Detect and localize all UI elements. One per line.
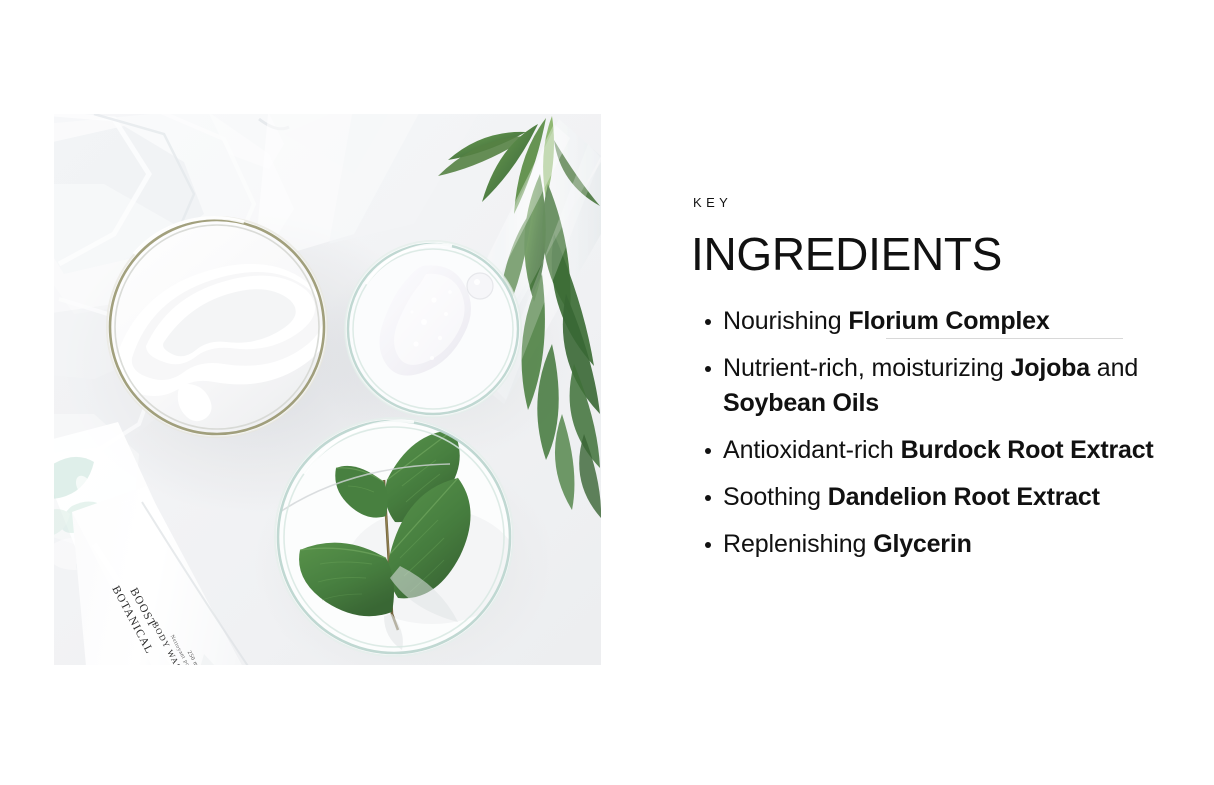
- bullet-lead-text: Soothing: [723, 483, 828, 511]
- list-item: Nourishing Florium Complex: [691, 304, 1161, 339]
- florium-complex-underline: [886, 338, 1123, 339]
- bullet-lead-text: Nutrient-rich, moisturizing: [723, 354, 1011, 382]
- list-item: Replenishing Glycerin: [691, 527, 1161, 562]
- ingredients-list: Nourishing Florium Complex Nutrient-rich…: [691, 304, 1161, 562]
- key-ingredients-photo: BOTANICAL BOOST BODY WASH Nettoyant pour…: [54, 114, 601, 665]
- bullet-strong-text: Burdock Root Extract: [901, 436, 1154, 464]
- bullet-lead-text: Antioxidant-rich: [723, 436, 901, 464]
- bullet-mid-text: and: [1090, 354, 1138, 382]
- bullet-lead-text: Nourishing: [723, 307, 848, 335]
- list-item: Soothing Dandelion Root Extract: [691, 480, 1161, 515]
- bullet-strong-text: Glycerin: [873, 530, 971, 558]
- bullet-lead-text: Replenishing: [723, 530, 873, 558]
- bullet-strong-text: Jojoba: [1011, 354, 1090, 382]
- bullet-strong-text: Dandelion Root Extract: [828, 483, 1100, 511]
- list-item: Antioxidant-rich Burdock Root Extract: [691, 433, 1161, 468]
- photo-illustration: [54, 114, 601, 665]
- list-item: Nutrient-rich, moisturizing Jojoba and S…: [691, 351, 1161, 421]
- slide-root: BOTANICAL BOOST BODY WASH Nettoyant pour…: [0, 0, 1214, 785]
- eyebrow-label: KEY: [693, 196, 1161, 209]
- page-title: INGREDIENTS: [691, 231, 1161, 277]
- bullet-strong-text-2: Soybean Oils: [723, 389, 879, 417]
- bullet-strong-text: Florium Complex: [848, 307, 1049, 335]
- ingredients-text-column: KEY INGREDIENTS Nourishing Florium Compl…: [691, 196, 1161, 562]
